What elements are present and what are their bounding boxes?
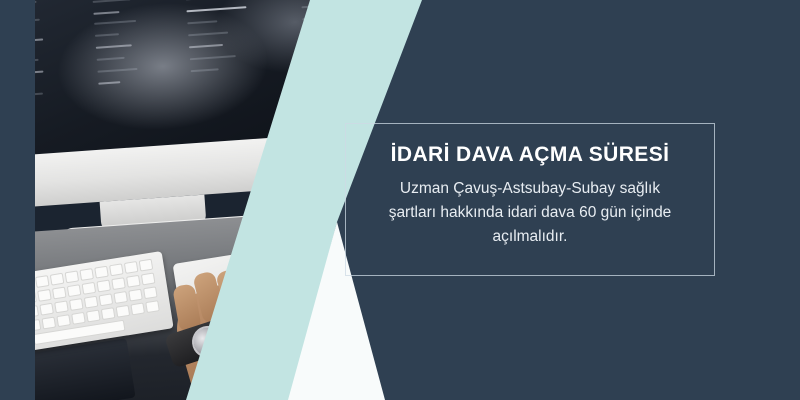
body-line: Uzman Çavuş-Astsubay-Subay sağlık xyxy=(400,180,660,197)
promo-banner: İDARİ DAVA AÇMA SÜRESİ Uzman Çavuş-Astsu… xyxy=(0,0,800,400)
body-text: Uzman Çavuş-Astsubay-Subay sağlık şartla… xyxy=(375,177,686,249)
body-line: açılmalıdır. xyxy=(493,228,568,245)
left-edge-strip xyxy=(0,0,35,400)
body-line: şartları hakkında idari dava 60 gün için… xyxy=(389,204,672,221)
page-title: İDARİ DAVA AÇMA SÜRESİ xyxy=(391,143,670,167)
text-card: İDARİ DAVA AÇMA SÜRESİ Uzman Çavuş-Astsu… xyxy=(345,123,715,276)
